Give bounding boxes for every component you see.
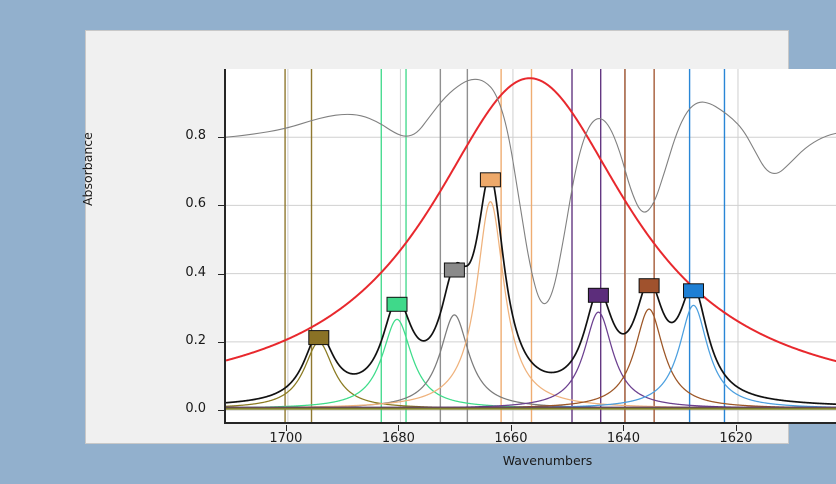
chart-canvas [226,69,836,422]
plot-area[interactable] [224,69,836,424]
x-tick-label: 1680 [370,431,426,446]
x-tick-label: 1640 [595,431,651,446]
peak-marker[interactable] [309,331,329,345]
x-tick-label: 1660 [483,431,539,446]
y-tick-label: 0.4 [158,265,206,280]
peak-marker[interactable] [684,284,704,298]
x-tick-mark [736,425,737,431]
peak-marker[interactable] [639,279,659,293]
x-tick-label: 1700 [258,431,314,446]
y-tick-label: 0.2 [158,333,206,348]
x-tick-mark [511,425,512,431]
x-tick-mark [398,425,399,431]
y-tick-label: 0.6 [158,196,206,211]
x-tick-label: 1620 [708,431,764,446]
y-axis-label: Absorbance [80,132,95,206]
peak-marker[interactable] [588,288,608,302]
y-tick-label: 0.8 [158,128,206,143]
x-tick-mark [286,425,287,431]
x-axis-label: Wavenumbers [488,453,608,468]
chart-panel: Absorbance 0.00.20.40.60.8 1700168016601… [85,30,789,444]
x-tick-mark [623,425,624,431]
screenshot-root: Absorbance 0.00.20.40.60.8 1700168016601… [0,0,836,484]
peak-marker[interactable] [480,173,500,187]
peak-marker[interactable] [444,263,464,277]
y-tick-label: 0.0 [158,401,206,416]
peak-marker[interactable] [387,297,407,311]
